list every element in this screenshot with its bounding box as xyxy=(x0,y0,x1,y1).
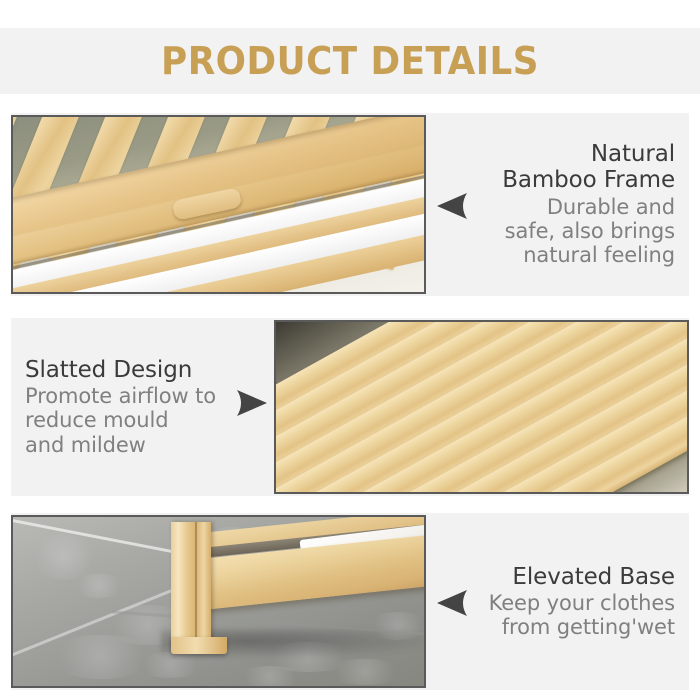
product-details-page: PRODUCT DETAILS Natural Bamboo Frame Dur… xyxy=(0,0,700,700)
feature-text-slatted-design: Slatted Design Promote airflow to reduce… xyxy=(11,318,261,496)
page-title: PRODUCT DETAILS xyxy=(161,42,539,80)
feature-image-slatted-design xyxy=(274,320,689,494)
feature-title: Natural Bamboo Frame xyxy=(502,141,675,193)
feature-panel-slatted-design: Slatted Design Promote airflow to reduce… xyxy=(11,318,689,496)
feature-panel-elevated-base: Elevated Base Keep your clothes from get… xyxy=(11,513,689,690)
feature-panel-natural-bamboo-frame: Natural Bamboo Frame Durable and safe, a… xyxy=(11,113,689,296)
feature-text-elevated-base: Elevated Base Keep your clothes from get… xyxy=(439,513,689,690)
feature-body: Promote airflow to reduce mould and mild… xyxy=(25,384,216,457)
feature-body: Keep your clothes from getting'wet xyxy=(489,591,675,640)
feature-image-elevated-base xyxy=(11,515,426,688)
feature-title: Elevated Base xyxy=(512,564,675,590)
feature-body: Durable and safe, also brings natural fe… xyxy=(505,195,675,268)
feature-title: Slatted Design xyxy=(25,357,192,383)
feature-image-natural-bamboo-frame xyxy=(11,115,426,294)
right-arrow-icon xyxy=(235,388,269,418)
feature-text-natural-bamboo-frame: Natural Bamboo Frame Durable and safe, a… xyxy=(439,113,689,296)
header-band: PRODUCT DETAILS xyxy=(0,28,700,94)
